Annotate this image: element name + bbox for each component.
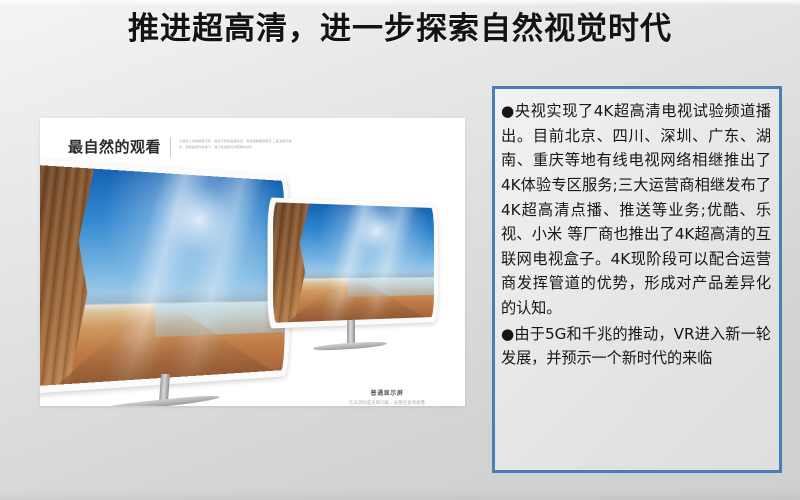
curved-monitor [58,176,290,376]
standard-monitor-stand-base [313,340,387,351]
slide-top-highlight [0,0,800,6]
photo-headline-group: 最自然的观看 从根源上消除屏幕闪烁，提供平稳的画面输出，有效缓解眼部疲劳 三星滤… [68,136,297,157]
monitor-stage: 普通显示屏 无法消除蓝光和闪屏，长期且容易疲惫 曲面屏 滤蓝光不闪屏，有效保护眼… [40,176,465,406]
photo-headline: 最自然的观看 [68,136,161,157]
slide-bottom-shading [0,490,800,500]
standard-monitor-stand-neck [347,320,355,344]
textbox-paragraph-2: ●由于5G和千兆的推动，VR进入新一轮发展，并预示一个新时代的来临 [501,322,771,371]
curved-monitor-stand-base [96,394,220,406]
product-photo-panel: 最自然的观看 从根源上消除屏幕闪烁，提供平稳的画面输出，有效缓解眼部疲劳 三星滤… [40,118,465,406]
caption-title: 普通显示屏 [312,388,462,397]
photo-subheadline: 从根源上消除屏幕闪烁，提供平稳的画面输出，有效缓解眼部疲劳 三星滤蓝光技术，保障… [179,136,297,150]
caption-standard-monitor: 普通显示屏 无法消除蓝光和闪屏，长期且容易疲惫 [312,388,462,406]
slide-title-bar: 推进超高清，进一步探索自然视觉时代 [0,12,800,48]
curved-monitor-screen [40,165,285,386]
standard-monitor [280,204,438,322]
page-title: 推进超高清，进一步探索自然视觉时代 [128,12,672,48]
landscape-image-flat [273,202,434,323]
standard-monitor-screen [273,202,434,323]
content-textbox: ●央视实现了4K超高清电视试验频道播出。目前北京、四川、深圳、广东、湖 南、重庆… [492,86,782,473]
landscape-image-curved [40,165,285,386]
headline-divider [170,137,171,157]
presentation-slide: 推进超高清，进一步探索自然视觉时代 最自然的观看 从根源上消除屏幕闪烁，提供平稳… [0,0,800,500]
textbox-paragraph-1: ●央视实现了4K超高清电视试验频道播出。目前北京、四川、深圳、广东、湖 南、重庆… [501,99,771,321]
caption-description: 无法消除蓝光和闪屏，长期且容易疲惫 [312,400,462,406]
